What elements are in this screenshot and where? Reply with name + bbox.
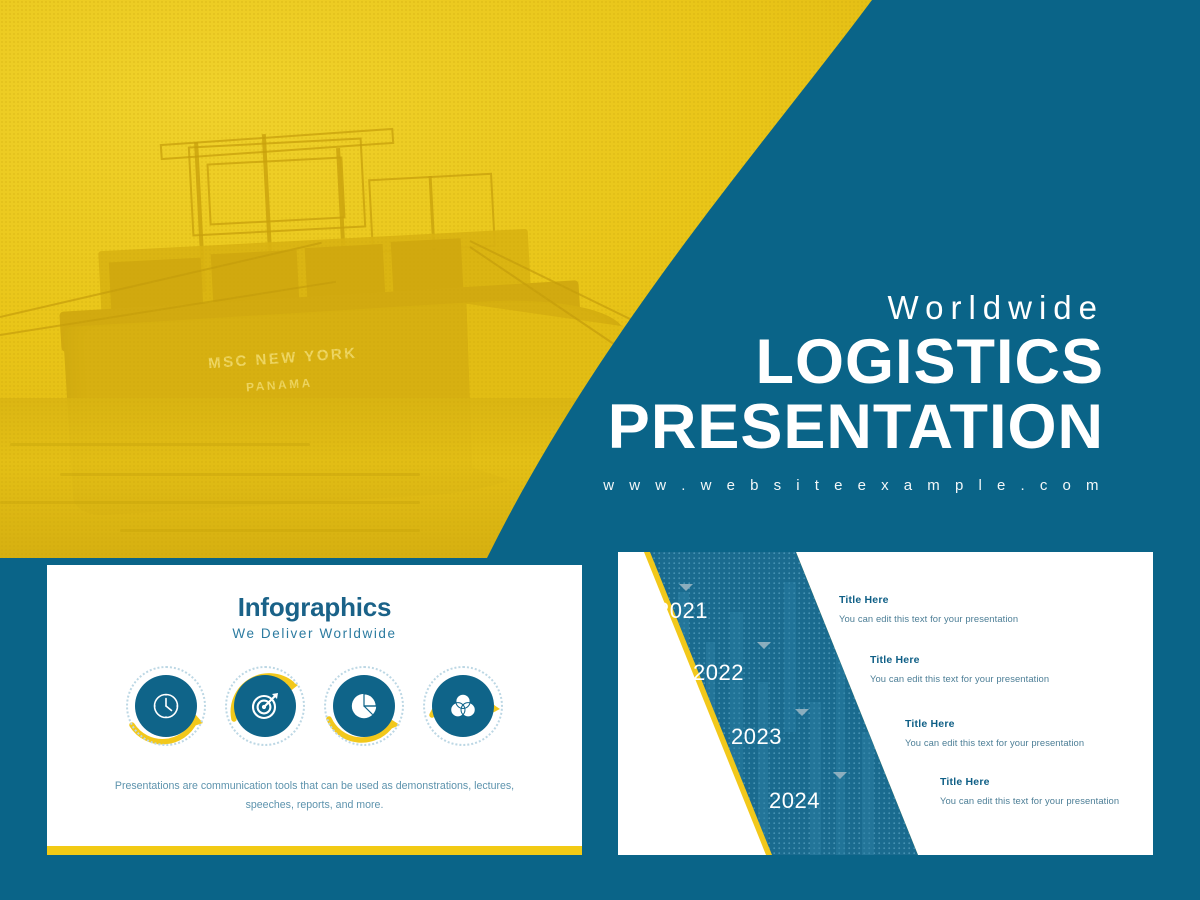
hero-kicker: Worldwide xyxy=(603,290,1104,326)
slide1-title: Infographics xyxy=(47,592,582,623)
timeline-entry-title: Title Here xyxy=(905,718,1084,730)
timeline-entry-3[interactable]: Title Here You can edit this text for yo… xyxy=(940,776,1119,806)
clock-icon xyxy=(150,690,182,722)
timeline-marker-2 xyxy=(795,709,809,716)
slide-thumbnail-infographics[interactable]: Infographics We Deliver Worldwide xyxy=(47,558,582,855)
hero-website-url: w w w . w e b s i t e e x a m p l e . c … xyxy=(603,477,1104,494)
pie-chart-icon xyxy=(349,691,379,721)
icon-disc xyxy=(135,675,197,737)
hero-section: MSC NEW YORK PANAMA Worldwide LOGISTICS … xyxy=(0,0,1200,558)
infographic-item-pie-chart[interactable] xyxy=(324,666,404,746)
infographic-item-target[interactable] xyxy=(225,666,305,746)
icon-disc xyxy=(234,675,296,737)
timeline-entry-text: You can edit this text for your presenta… xyxy=(870,673,1049,684)
slide1-subtitle: We Deliver Worldwide xyxy=(47,626,582,641)
infographic-item-venn[interactable] xyxy=(423,666,503,746)
timeline-marker-3 xyxy=(833,772,847,779)
timeline-year-0: 2021 xyxy=(657,598,708,624)
timeline-entry-text: You can edit this text for your presenta… xyxy=(940,795,1119,806)
timeline-marker-0 xyxy=(679,584,693,591)
slide1-icon-row xyxy=(47,666,582,746)
timeline-year-3: 2024 xyxy=(769,788,820,814)
timeline-entry-text: You can edit this text for your presenta… xyxy=(839,613,1018,624)
hero-text-block: Worldwide LOGISTICS PRESENTATION w w w .… xyxy=(603,290,1104,494)
hero-title-line2: PRESENTATION xyxy=(603,395,1104,459)
slide-thumbnail-timeline[interactable]: 2021 2022 2023 2024 Title Here You can e… xyxy=(618,552,1153,855)
timeline-entry-title: Title Here xyxy=(940,776,1119,788)
slide1-body-text: Presentations are communication tools th… xyxy=(105,777,524,814)
hero-title-line1: LOGISTICS xyxy=(603,330,1104,394)
timeline-entry-title: Title Here xyxy=(839,594,1018,606)
timeline-entry-1[interactable]: Title Here You can edit this text for yo… xyxy=(870,654,1049,684)
timeline-entry-0[interactable]: Title Here You can edit this text for yo… xyxy=(839,594,1018,624)
slide1-bottom-accent-bar xyxy=(47,846,582,855)
presentation-preview: MSC NEW YORK PANAMA Worldwide LOGISTICS … xyxy=(0,0,1200,900)
timeline-year-2: 2023 xyxy=(731,724,782,750)
timeline-entry-text: You can edit this text for your presenta… xyxy=(905,737,1084,748)
timeline-entry-title: Title Here xyxy=(870,654,1049,666)
icon-disc xyxy=(432,675,494,737)
venn-circles-icon xyxy=(448,691,478,721)
icon-disc xyxy=(333,675,395,737)
timeline-marker-1 xyxy=(757,642,771,649)
timeline-year-1: 2022 xyxy=(693,660,744,686)
slide1-top-accent-bar xyxy=(47,558,582,565)
target-icon xyxy=(249,690,281,722)
infographic-item-clock[interactable] xyxy=(126,666,206,746)
timeline-entry-2[interactable]: Title Here You can edit this text for yo… xyxy=(905,718,1084,748)
